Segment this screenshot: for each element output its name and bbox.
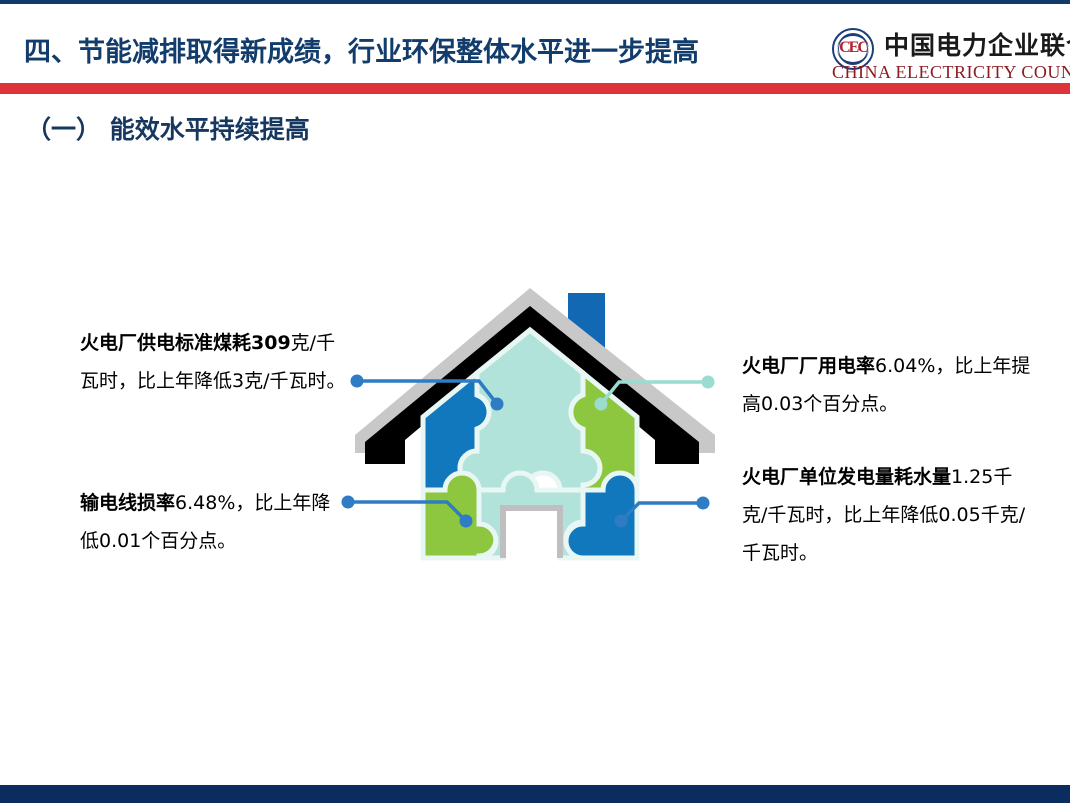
puzzle-house-illustration [355, 275, 715, 575]
emblem-monogram: CEC [834, 39, 872, 57]
logo-name-english: CHINA ELECTRICITY COUNCIL [832, 62, 1070, 83]
callout-line-loss: 输电线损率6.48%，比上年降低0.01个百分点。 [80, 484, 348, 560]
cec-logo: CEC 中国电力企业联合会 CHINA ELECTRICITY COUNCIL [832, 26, 1064, 86]
logo-name-chinese: 中国电力企业联合会 [884, 26, 1070, 62]
footer-navy-bar [0, 785, 1070, 803]
page-title: 四、节能减排取得新成绩，行业环保整体水平进一步提高 [24, 30, 699, 69]
callout-coal-bold: 火电厂供电标准煤耗309 [80, 332, 291, 354]
callout-aux-bold: 火电厂厂用电率 [742, 355, 875, 377]
callout-loss-bold: 输电线损率 [80, 492, 175, 514]
door-gray-outline [503, 508, 560, 558]
red-divider-bar [0, 83, 1070, 94]
callout-auxiliary-power: 火电厂厂用电率6.04%，比上年提高0.03个百分点。 [742, 347, 1032, 423]
slide-header: 四、节能减排取得新成绩，行业环保整体水平进一步提高 CEC 中国电力企业联合会 … [0, 4, 1070, 83]
callout-water-consumption: 火电厂单位发电量耗水量1.25千克/千瓦时，比上年降低0.05千克/千瓦时。 [742, 458, 1034, 572]
callout-water-bold: 火电厂单位发电量耗水量 [742, 466, 951, 488]
section-heading: （一） 能效水平持续提高 [26, 110, 310, 146]
callout-coal-consumption: 火电厂供电标准煤耗309克/千瓦时，比上年降低3克/千瓦时。 [80, 324, 348, 400]
